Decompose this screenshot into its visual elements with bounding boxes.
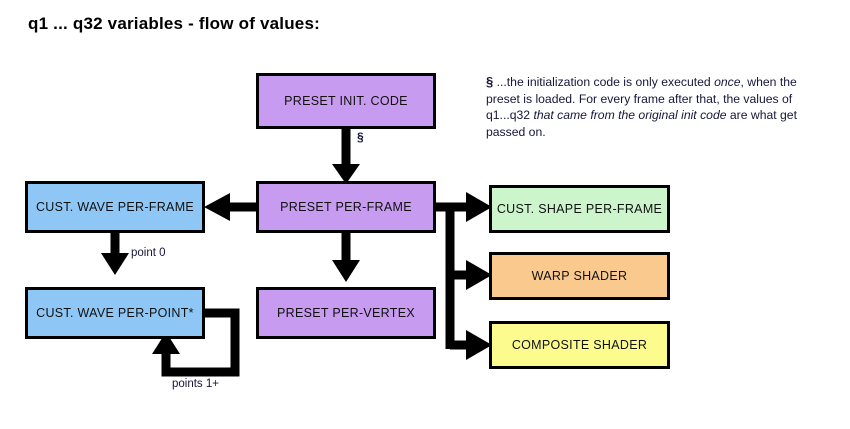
edge-perframe-to-right-trunk [436, 192, 492, 360]
node-cust-wave-per-point[interactable]: CUST. WAVE PER-POINT* [25, 287, 205, 339]
footnote-text-1: ...the initialization code is only execu… [493, 75, 714, 89]
footnote-block: § ...the initialization code is only exe… [486, 74, 816, 140]
edge-perframe-to-pervertex [332, 233, 360, 282]
node-label: CUST. SHAPE PER-FRAME [497, 203, 662, 216]
edge-label-points-one-plus: points 1+ [172, 378, 219, 390]
footnote-italic-2: that came from the original init code [533, 108, 726, 122]
footnote-italic-1: once [714, 75, 740, 89]
edge-label-point-zero: point 0 [131, 247, 166, 259]
edge-label-section-marker: § [357, 130, 364, 144]
node-label: COMPOSITE SHADER [512, 339, 647, 352]
node-preset-per-vertex[interactable]: PRESET PER-VERTEX [256, 287, 436, 339]
node-label: CUST. WAVE PER-POINT* [36, 307, 194, 320]
node-preset-per-frame[interactable]: PRESET PER-FRAME [256, 181, 436, 233]
node-cust-shape-per-frame[interactable]: CUST. SHAPE PER-FRAME [489, 185, 670, 233]
node-preset-init-code[interactable]: PRESET INIT. CODE [256, 73, 436, 129]
node-composite-shader[interactable]: COMPOSITE SHADER [489, 321, 670, 369]
node-cust-wave-per-frame[interactable]: CUST. WAVE PER-FRAME [25, 181, 205, 233]
node-label: PRESET PER-FRAME [280, 201, 412, 214]
node-label: WARP SHADER [532, 270, 628, 283]
node-label: PRESET PER-VERTEX [277, 307, 415, 320]
edge-init-to-perframe [332, 129, 360, 184]
edge-custwaveframe-to-custwavepoint [101, 233, 129, 275]
node-warp-shader[interactable]: WARP SHADER [489, 252, 670, 300]
node-label: PRESET INIT. CODE [284, 95, 408, 108]
node-label: CUST. WAVE PER-FRAME [36, 201, 194, 214]
edge-perframe-to-custwaveframe [204, 193, 256, 221]
